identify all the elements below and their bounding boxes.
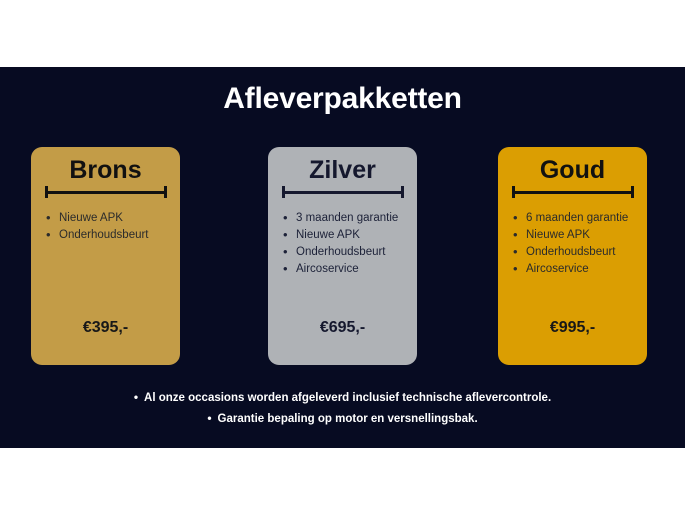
list-item: Onderhoudsbeurt <box>512 244 639 261</box>
list-item: Onderhoudsbeurt <box>282 244 409 261</box>
divider-bar <box>45 191 167 194</box>
dimension-line-icon <box>512 186 634 198</box>
package-price-goud: €995,- <box>498 319 647 337</box>
dimension-line-icon <box>45 186 167 198</box>
dimension-line-icon <box>282 186 404 198</box>
footnote-item: •Garantie bepaling op motor en versnelli… <box>0 408 685 429</box>
list-item: Onderhoudsbeurt <box>45 227 172 244</box>
divider-cap-right <box>401 186 404 198</box>
footnote-item: •Al onze occasions worden afgeleverd inc… <box>0 387 685 408</box>
feature-list-goud: 6 maanden garantie Nieuwe APK Onderhouds… <box>498 210 647 278</box>
divider-cap-right <box>631 186 634 198</box>
footnote-text: Garantie bepaling op motor en versnellin… <box>218 413 478 425</box>
dark-panel: Afleverpakketten Brons Nieuwe APK Onderh… <box>0 67 685 448</box>
list-item: Nieuwe APK <box>45 210 172 227</box>
list-item: Aircoservice <box>282 261 409 278</box>
divider-cap-right <box>164 186 167 198</box>
page-title: Afleverpakketten <box>0 82 685 116</box>
list-item: Nieuwe APK <box>282 227 409 244</box>
package-price-zilver: €695,- <box>268 319 417 337</box>
list-item: 3 maanden garantie <box>282 210 409 227</box>
package-card-zilver[interactable]: Zilver 3 maanden garantie Nieuwe APK Ond… <box>268 147 417 365</box>
list-item: Nieuwe APK <box>512 227 639 244</box>
divider-bar <box>282 191 404 194</box>
package-price-brons: €395,- <box>31 319 180 337</box>
footnote-list: •Al onze occasions worden afgeleverd inc… <box>0 387 685 429</box>
footnote-text: Al onze occasions worden afgeleverd incl… <box>144 392 551 404</box>
list-item: Aircoservice <box>512 261 639 278</box>
package-title-goud: Goud <box>498 155 647 185</box>
bullet-icon: • <box>134 387 138 407</box>
bullet-icon: • <box>207 408 211 428</box>
package-card-goud[interactable]: Goud 6 maanden garantie Nieuwe APK Onder… <box>498 147 647 365</box>
divider-bar <box>512 191 634 194</box>
slide-page: Afleverpakketten Brons Nieuwe APK Onderh… <box>0 0 685 513</box>
feature-list-zilver: 3 maanden garantie Nieuwe APK Onderhouds… <box>268 210 417 278</box>
package-card-brons[interactable]: Brons Nieuwe APK Onderhoudsbeurt €395,- <box>31 147 180 365</box>
package-card-list: Brons Nieuwe APK Onderhoudsbeurt €395,- … <box>0 147 685 372</box>
list-item: 6 maanden garantie <box>512 210 639 227</box>
package-title-brons: Brons <box>31 155 180 185</box>
package-title-zilver: Zilver <box>268 155 417 185</box>
feature-list-brons: Nieuwe APK Onderhoudsbeurt <box>31 210 180 244</box>
